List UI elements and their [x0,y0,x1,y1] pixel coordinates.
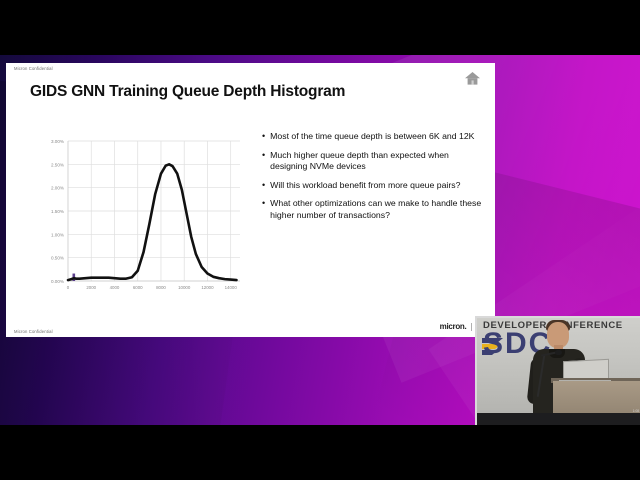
x-axis-tick-label: 0 [67,285,70,290]
list-item: • Most of the time queue depth is betwee… [262,131,484,142]
x-axis-tick-label: 6000 [133,285,143,290]
x-axis-tick-label: 12000 [201,285,214,290]
y-axis-tick-label: 3.00% [51,139,64,144]
list-item: • Much higher queue depth than expected … [262,150,484,172]
bullet-marker: • [262,198,265,220]
x-axis-tick-label: 8000 [156,285,166,290]
letterbox-top [0,0,640,55]
confidential-notice-bottom: Micron Confidential [14,329,53,334]
page-title: GIDS GNN Training Queue Depth Histogram [30,83,345,101]
y-axis-tick-label: 2.00% [51,186,64,191]
list-item: • What other optimizations can we make t… [262,198,484,220]
video-timestamp: 1:08 [633,409,639,413]
queue-depth-histogram: 3.00%2.50%2.00%1.50%1.00%0.50%0.00% 0200… [28,133,248,303]
video-player-frame: Micron Confidential GIDS GNN Training Qu… [0,0,640,480]
x-axis-tick-labels: 02000400060008000100001200014000 [67,285,238,290]
presenter-video-inner: DEVELOPER CONFERENCE SDC Developers ...e… [477,318,640,427]
letterbox-bottom [0,425,640,480]
x-axis-tick-label: 14000 [225,285,238,290]
presentation-slide: Micron Confidential GIDS GNN Training Qu… [6,63,495,337]
chart-gridlines [68,141,240,281]
y-axis-tick-label: 0.50% [51,256,64,261]
bullet-marker: • [262,150,265,172]
bullet-text: Much higher queue depth than expected wh… [270,150,484,172]
presenter-video[interactable]: DEVELOPER CONFERENCE SDC Developers ...e… [475,316,640,427]
x-axis-tick-label: 4000 [110,285,120,290]
bullet-text: Most of the time queue depth is between … [270,131,474,142]
y-axis-tick-label: 1.00% [51,232,64,237]
y-axis-tick-label: 1.50% [51,209,64,214]
bullet-marker: • [262,131,265,142]
y-axis-tick-label: 0.00% [51,279,64,284]
microphone-head [555,350,562,355]
y-axis-tick-label: 2.50% [51,162,64,167]
list-item: • Will this workload benefit from more q… [262,180,484,191]
bullet-list: • Most of the time queue depth is betwee… [262,131,484,228]
confidential-notice-top: Micron Confidential [14,66,53,71]
micron-logo: micron. [440,322,467,331]
distribution-curve [68,164,237,280]
x-axis-tick-label: 2000 [86,285,96,290]
y-axis-tick-labels: 3.00%2.50%2.00%1.50%1.00%0.50%0.00% [51,139,64,284]
footer-divider [471,323,472,331]
bullet-text: What other optimizations can we make to … [270,198,484,220]
x-axis-tick-label: 10000 [178,285,191,290]
bullet-marker: • [262,180,265,191]
home-icon[interactable] [463,69,482,88]
bullet-text: Will this workload benefit from more que… [270,180,460,191]
chart-svg: 3.00%2.50%2.00%1.50%1.00%0.50%0.00% 0200… [28,133,248,303]
